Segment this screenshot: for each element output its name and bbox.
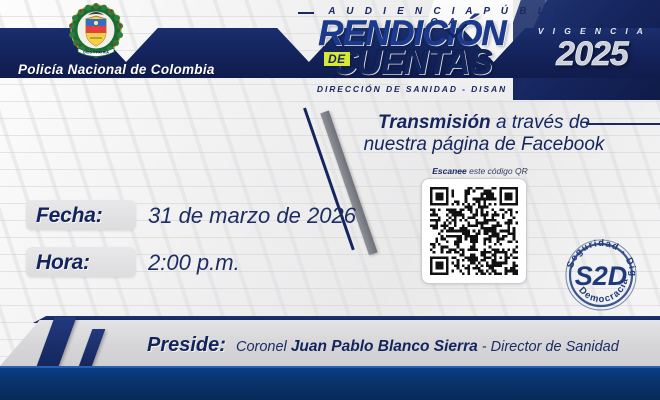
qr-caption: Escanee este código QR [415, 166, 545, 176]
eyebrow-rule-right [576, 12, 590, 14]
vigencia-year: 2025 [534, 36, 650, 72]
colombia-police-crest-icon: DIOS Y PATRIA [68, 3, 124, 61]
qr-code-canvas [430, 187, 518, 275]
svg-text:S2D: S2D [575, 261, 628, 291]
presenter-label: Preside: [147, 334, 226, 357]
broadcast-line-2: nuestra página de Facebook [348, 134, 620, 156]
presenter-rank: Coronel [236, 339, 291, 355]
broadcast-word-transmision: Transmisión [378, 112, 491, 133]
footer-band [0, 366, 660, 400]
date-label: Fecha: [36, 204, 103, 228]
time-label: Hora: [36, 251, 90, 275]
qr-code-icon[interactable] [421, 178, 527, 284]
presenter-name: Juan Pablo Blanco Sierra [291, 338, 478, 355]
date-value: 31 de marzo de 2026 [148, 203, 356, 229]
title-subtitle: DIRECCIÓN DE SANIDAD - DISAN [296, 84, 528, 94]
event-poster: DIOS Y PATRIA Policía Nacional de Colomb… [0, 0, 660, 400]
check-mark-icon [446, 24, 468, 40]
header: DIOS Y PATRIA Policía Nacional de Colomb… [0, 0, 660, 100]
qr-caption-bold: Escanee [432, 166, 467, 176]
presenter-role: - Director de Sanidad [478, 339, 619, 355]
eyebrow-rule-left [298, 12, 314, 14]
footer-highlight-line [0, 366, 660, 368]
s2d-seal-icon: Seguridad · Dignidad Democracia S2D [558, 232, 644, 318]
time-value: 2:00 p.m. [148, 250, 240, 276]
qr-caption-rest: este código QR [467, 166, 528, 176]
title-de-badge: DE [324, 52, 350, 66]
event-title: RENDICIÓN CUENTAS DE [296, 16, 528, 88]
presenter-value: Coronel Juan Pablo Blanco Sierra - Direc… [236, 338, 619, 356]
institution-name: Policía Nacional de Colombia [18, 62, 215, 77]
svg-text:DIOS Y PATRIA: DIOS Y PATRIA [83, 51, 109, 55]
broadcast-line-1-rest: a través de [491, 112, 590, 133]
broadcast-line-1: Transmisión a través de [348, 112, 620, 134]
